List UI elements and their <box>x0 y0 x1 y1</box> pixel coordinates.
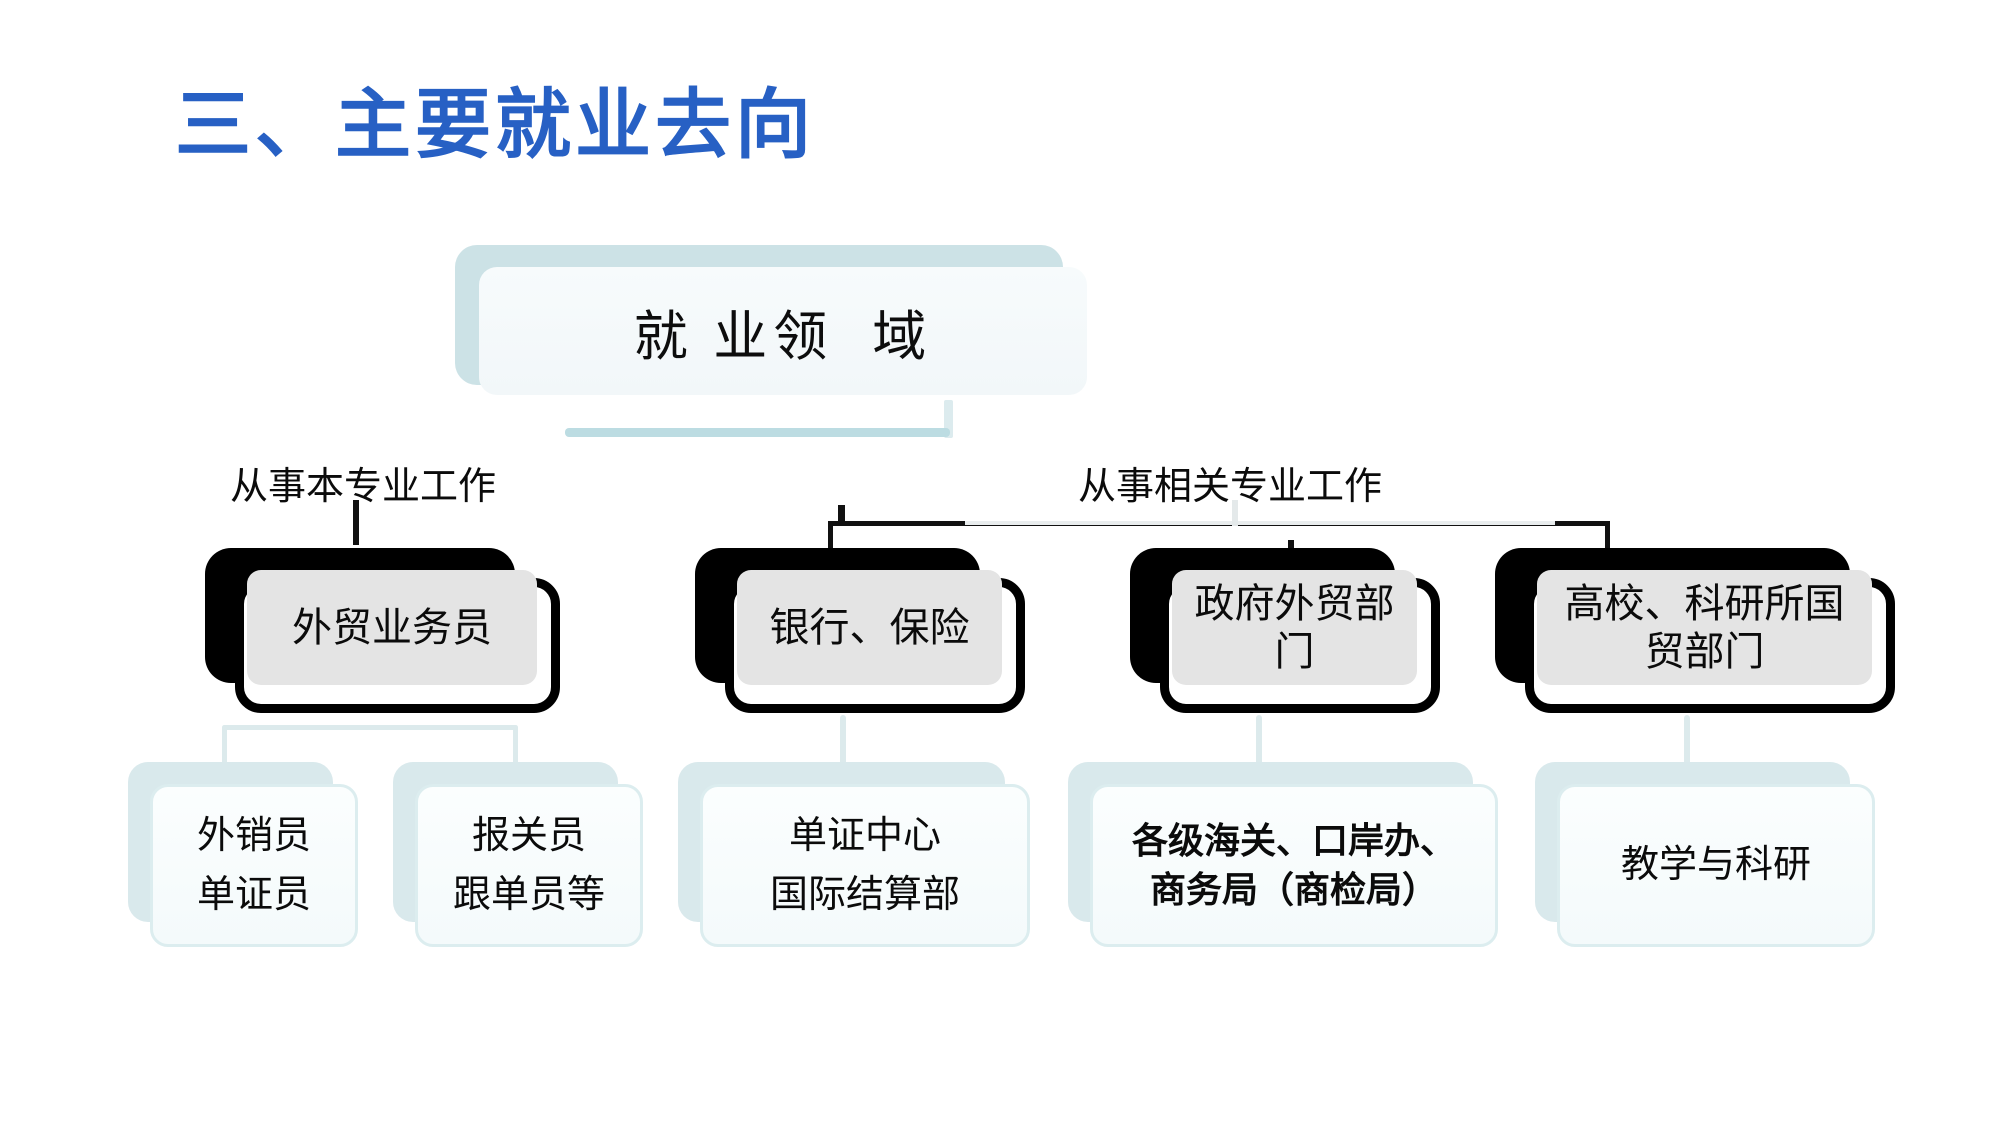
connector-drop-box2 <box>840 715 846 765</box>
secondary-box-front: 单证中心 国际结算部 <box>700 784 1030 947</box>
secondary-box-front: 各级海关、口岸办、 商务局（商检局） <box>1090 784 1498 947</box>
secondary-box-line: 教学与科研 <box>1621 836 1811 895</box>
secondary-box-line: 跟单员等 <box>453 866 605 925</box>
connector-center-up-stub <box>1232 500 1238 526</box>
secondary-box-line: 商务局（商检局） <box>1150 866 1438 915</box>
connector-drop-box1-left <box>222 725 227 765</box>
primary-box-label: 银行、保险 <box>737 570 1002 685</box>
header-card-front: 就 业领 域 <box>479 267 1087 395</box>
secondary-box-document-settlement-center[interactable]: 单证中心 国际结算部 <box>678 762 1030 947</box>
connector-drop-box1-right <box>513 725 518 765</box>
secondary-box-customs-port-commerce-bureau[interactable]: 各级海关、口岸办、 商务局（商检局） <box>1068 762 1498 947</box>
primary-box-foreign-trade-salesperson[interactable]: 外贸业务员 <box>205 548 560 713</box>
primary-box-label: 政府外贸部门 <box>1172 570 1417 685</box>
section-label-related-major: 从事相关专业工作 <box>1078 455 1382 510</box>
primary-box-bank-insurance[interactable]: 银行、保险 <box>695 548 1025 713</box>
connector-drop-box3 <box>1256 715 1262 765</box>
header-card: 就 业领 域 <box>455 245 1095 395</box>
connector-drop-own-major <box>353 500 359 545</box>
header-card-label: 就 业领 域 <box>634 292 933 371</box>
primary-box-university-research-trade-dept[interactable]: 高校、科研所国贸部门 <box>1495 548 1895 713</box>
secondary-box-line: 单证中心 <box>789 807 941 866</box>
header-underline-bar <box>565 428 950 437</box>
primary-box-label: 高校、科研所国贸部门 <box>1537 570 1872 685</box>
secondary-box-teaching-research[interactable]: 教学与科研 <box>1535 762 1875 947</box>
slide-canvas: 三、主要就业去向 就 业领 域 从事本专业工作 从事相关专业工作 外贸业务员 银… <box>0 0 2000 1125</box>
secondary-box-line: 国际结算部 <box>770 866 960 925</box>
secondary-box-front: 外销员 单证员 <box>150 784 358 947</box>
section-label-own-major: 从事本专业工作 <box>230 455 496 510</box>
primary-box-label: 外贸业务员 <box>247 570 537 685</box>
connector-bracket-horizontal-light <box>965 521 1555 525</box>
secondary-box-customs-declarant[interactable]: 报关员 跟单员等 <box>393 762 643 947</box>
connector-drop-box4 <box>1684 715 1690 765</box>
secondary-box-line: 各级海关、口岸办、 <box>1132 817 1456 866</box>
secondary-box-export-sales-clerk[interactable]: 外销员 单证员 <box>128 762 358 947</box>
connector-stub-bank-box <box>838 505 845 521</box>
secondary-box-line: 外销员 <box>197 807 311 866</box>
secondary-box-line: 报关员 <box>472 807 586 866</box>
secondary-box-front: 教学与科研 <box>1557 784 1875 947</box>
connector-branch-box1 <box>222 725 518 730</box>
secondary-box-front: 报关员 跟单员等 <box>415 784 643 947</box>
page-title: 三、主要就业去向 <box>175 88 815 164</box>
primary-box-government-foreign-trade-dept[interactable]: 政府外贸部门 <box>1130 548 1440 713</box>
secondary-box-line: 单证员 <box>197 866 311 925</box>
